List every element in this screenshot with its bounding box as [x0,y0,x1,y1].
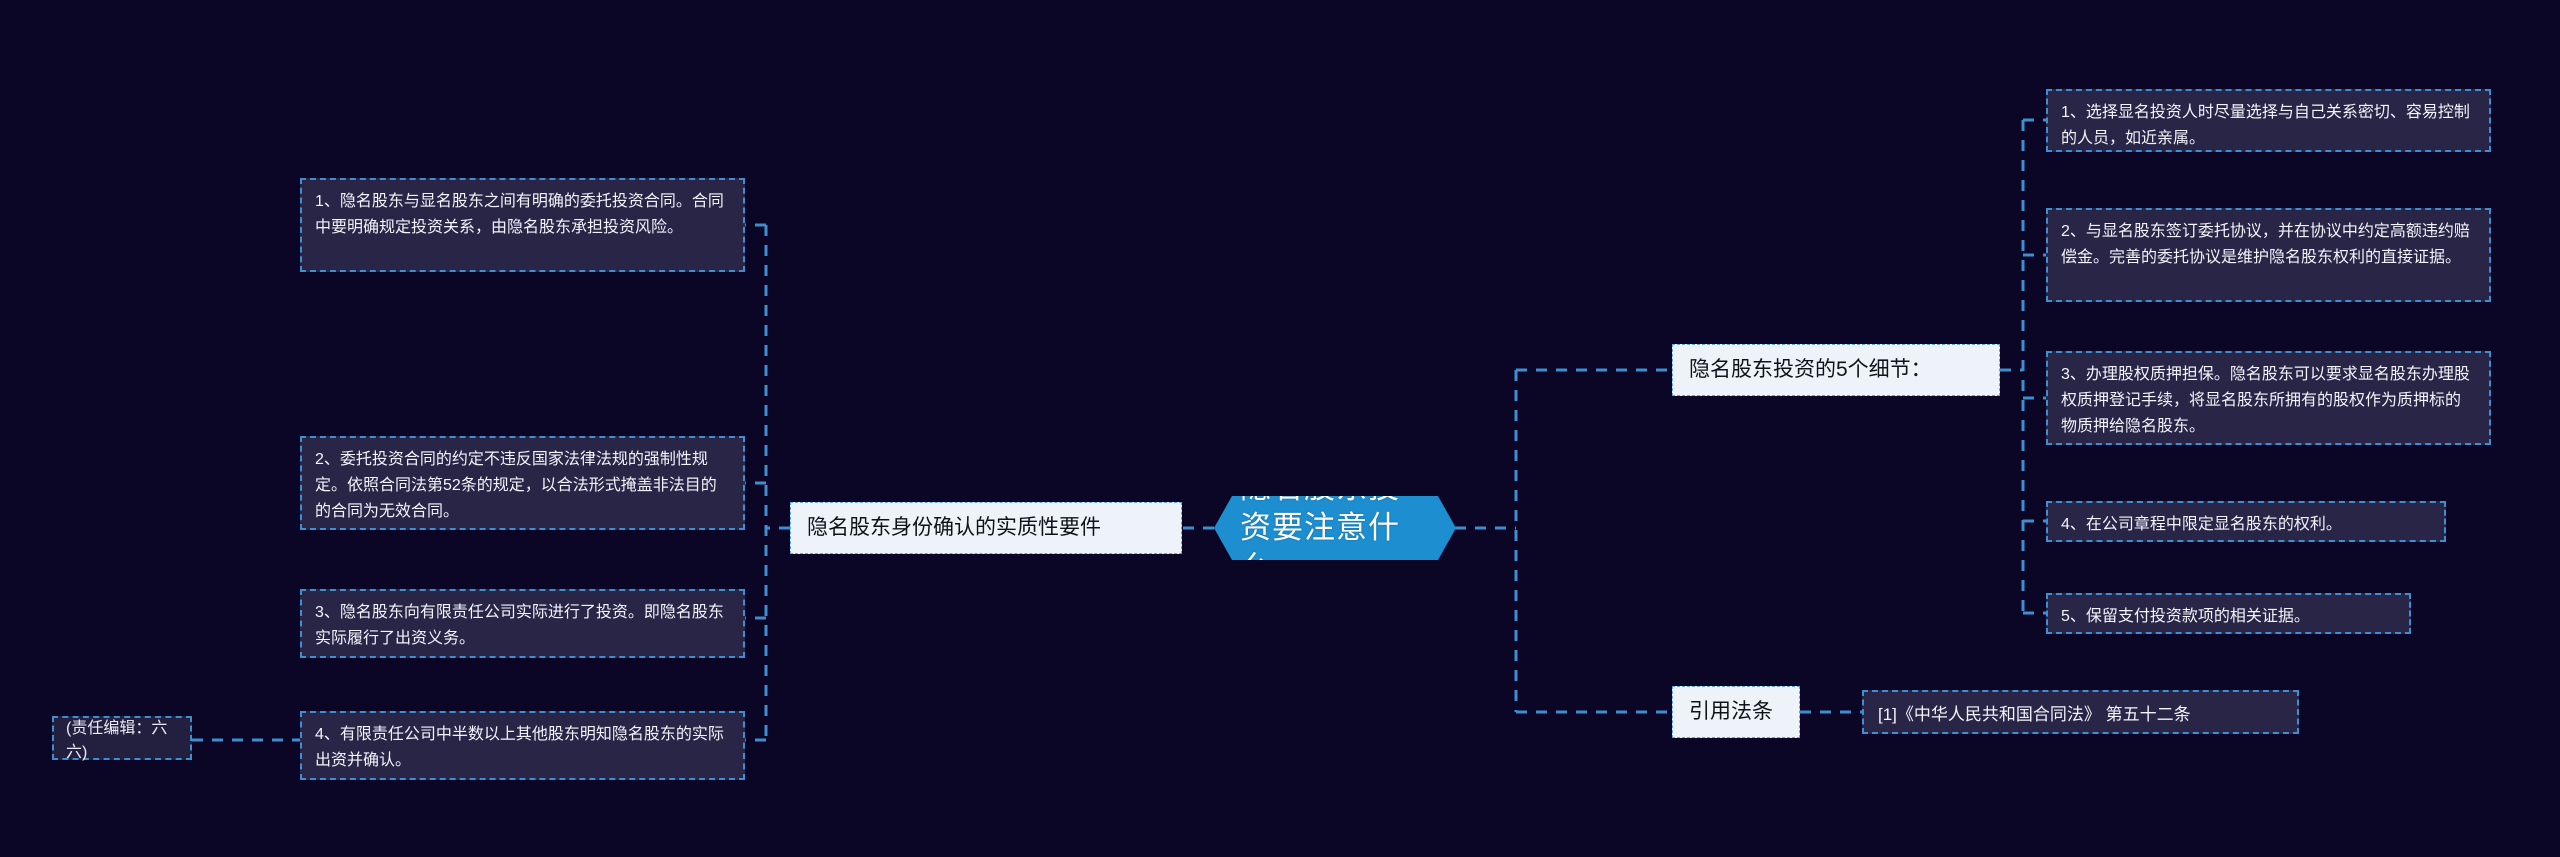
branch-node-details-label: 隐名股东投资的5个细节： [1689,356,1932,384]
leaf-detail-1-label: 1、选择显名投资人时尽量选择与自己关系密切、容易控制的人员，如近亲属。 [2061,104,2470,147]
leaf-left-4-label: 4、有限责任公司中半数以上其他股东明知隐名股东的实际出资并确认。 [315,726,724,769]
leaf-left-1[interactable]: 1、隐名股东与显名股东之间有明确的委托投资合同。合同中要明确规定投资关系，由隐名… [300,178,745,272]
branch-node-left-label: 隐名股东身份确认的实质性要件 [807,514,1101,542]
leaf-detail-5[interactable]: 5、保留支付投资款项的相关证据。 [2046,593,2411,634]
root-node-label: 隐名股东投资要注意什么 [1240,468,1430,589]
leaf-detail-4[interactable]: 4、在公司章程中限定显名股东的权利。 [2046,501,2446,542]
leaf-detail-5-label: 5、保留支付投资款项的相关证据。 [2061,608,2310,625]
leaf-law-1[interactable]: [1]《中华人民共和国合同法》 第五十二条 [1862,690,2299,734]
mindmap-canvas: 隐名股东投资要注意什么 隐名股东身份确认的实质性要件 1、隐名股东与显名股东之间… [0,0,2560,857]
branch-node-details[interactable]: 隐名股东投资的5个细节： [1672,344,2000,396]
editor-note-label: (责任编辑：六六) [66,714,178,762]
leaf-law-1-label: [1]《中华人民共和国合同法》 第五十二条 [1878,700,2191,725]
leaf-left-4[interactable]: 4、有限责任公司中半数以上其他股东明知隐名股东的实际出资并确认。 [300,711,745,780]
leaf-detail-2-label: 2、与显名股东签订委托协议，并在协议中约定高额违约赔偿金。完善的委托协议是维护隐… [2061,223,2470,266]
leaf-left-1-label: 1、隐名股东与显名股东之间有明确的委托投资合同。合同中要明确规定投资关系，由隐名… [315,193,724,236]
leaf-detail-2[interactable]: 2、与显名股东签订委托协议，并在协议中约定高额违约赔偿金。完善的委托协议是维护隐… [2046,208,2491,302]
branch-node-left[interactable]: 隐名股东身份确认的实质性要件 [790,502,1182,554]
root-node[interactable]: 隐名股东投资要注意什么 [1214,496,1456,560]
editor-note[interactable]: (责任编辑：六六) [52,716,192,760]
leaf-detail-4-label: 4、在公司章程中限定显名股东的权利。 [2061,516,2342,533]
leaf-left-3-label: 3、隐名股东向有限责任公司实际进行了投资。即隐名股东实际履行了出资义务。 [315,604,724,647]
branch-node-law[interactable]: 引用法条 [1672,686,1800,738]
leaf-left-2-label: 2、委托投资合同的约定不违反国家法律法规的强制性规定。依照合同法第52条的规定，… [315,451,717,520]
branch-node-law-label: 引用法条 [1689,698,1773,726]
leaf-detail-3[interactable]: 3、办理股权质押担保。隐名股东可以要求显名股东办理股权质押登记手续，将显名股东所… [2046,351,2491,445]
leaf-left-3[interactable]: 3、隐名股东向有限责任公司实际进行了投资。即隐名股东实际履行了出资义务。 [300,589,745,658]
leaf-detail-1[interactable]: 1、选择显名投资人时尽量选择与自己关系密切、容易控制的人员，如近亲属。 [2046,89,2491,152]
leaf-detail-3-label: 3、办理股权质押担保。隐名股东可以要求显名股东办理股权质押登记手续，将显名股东所… [2061,366,2470,435]
leaf-left-2[interactable]: 2、委托投资合同的约定不违反国家法律法规的强制性规定。依照合同法第52条的规定，… [300,436,745,530]
